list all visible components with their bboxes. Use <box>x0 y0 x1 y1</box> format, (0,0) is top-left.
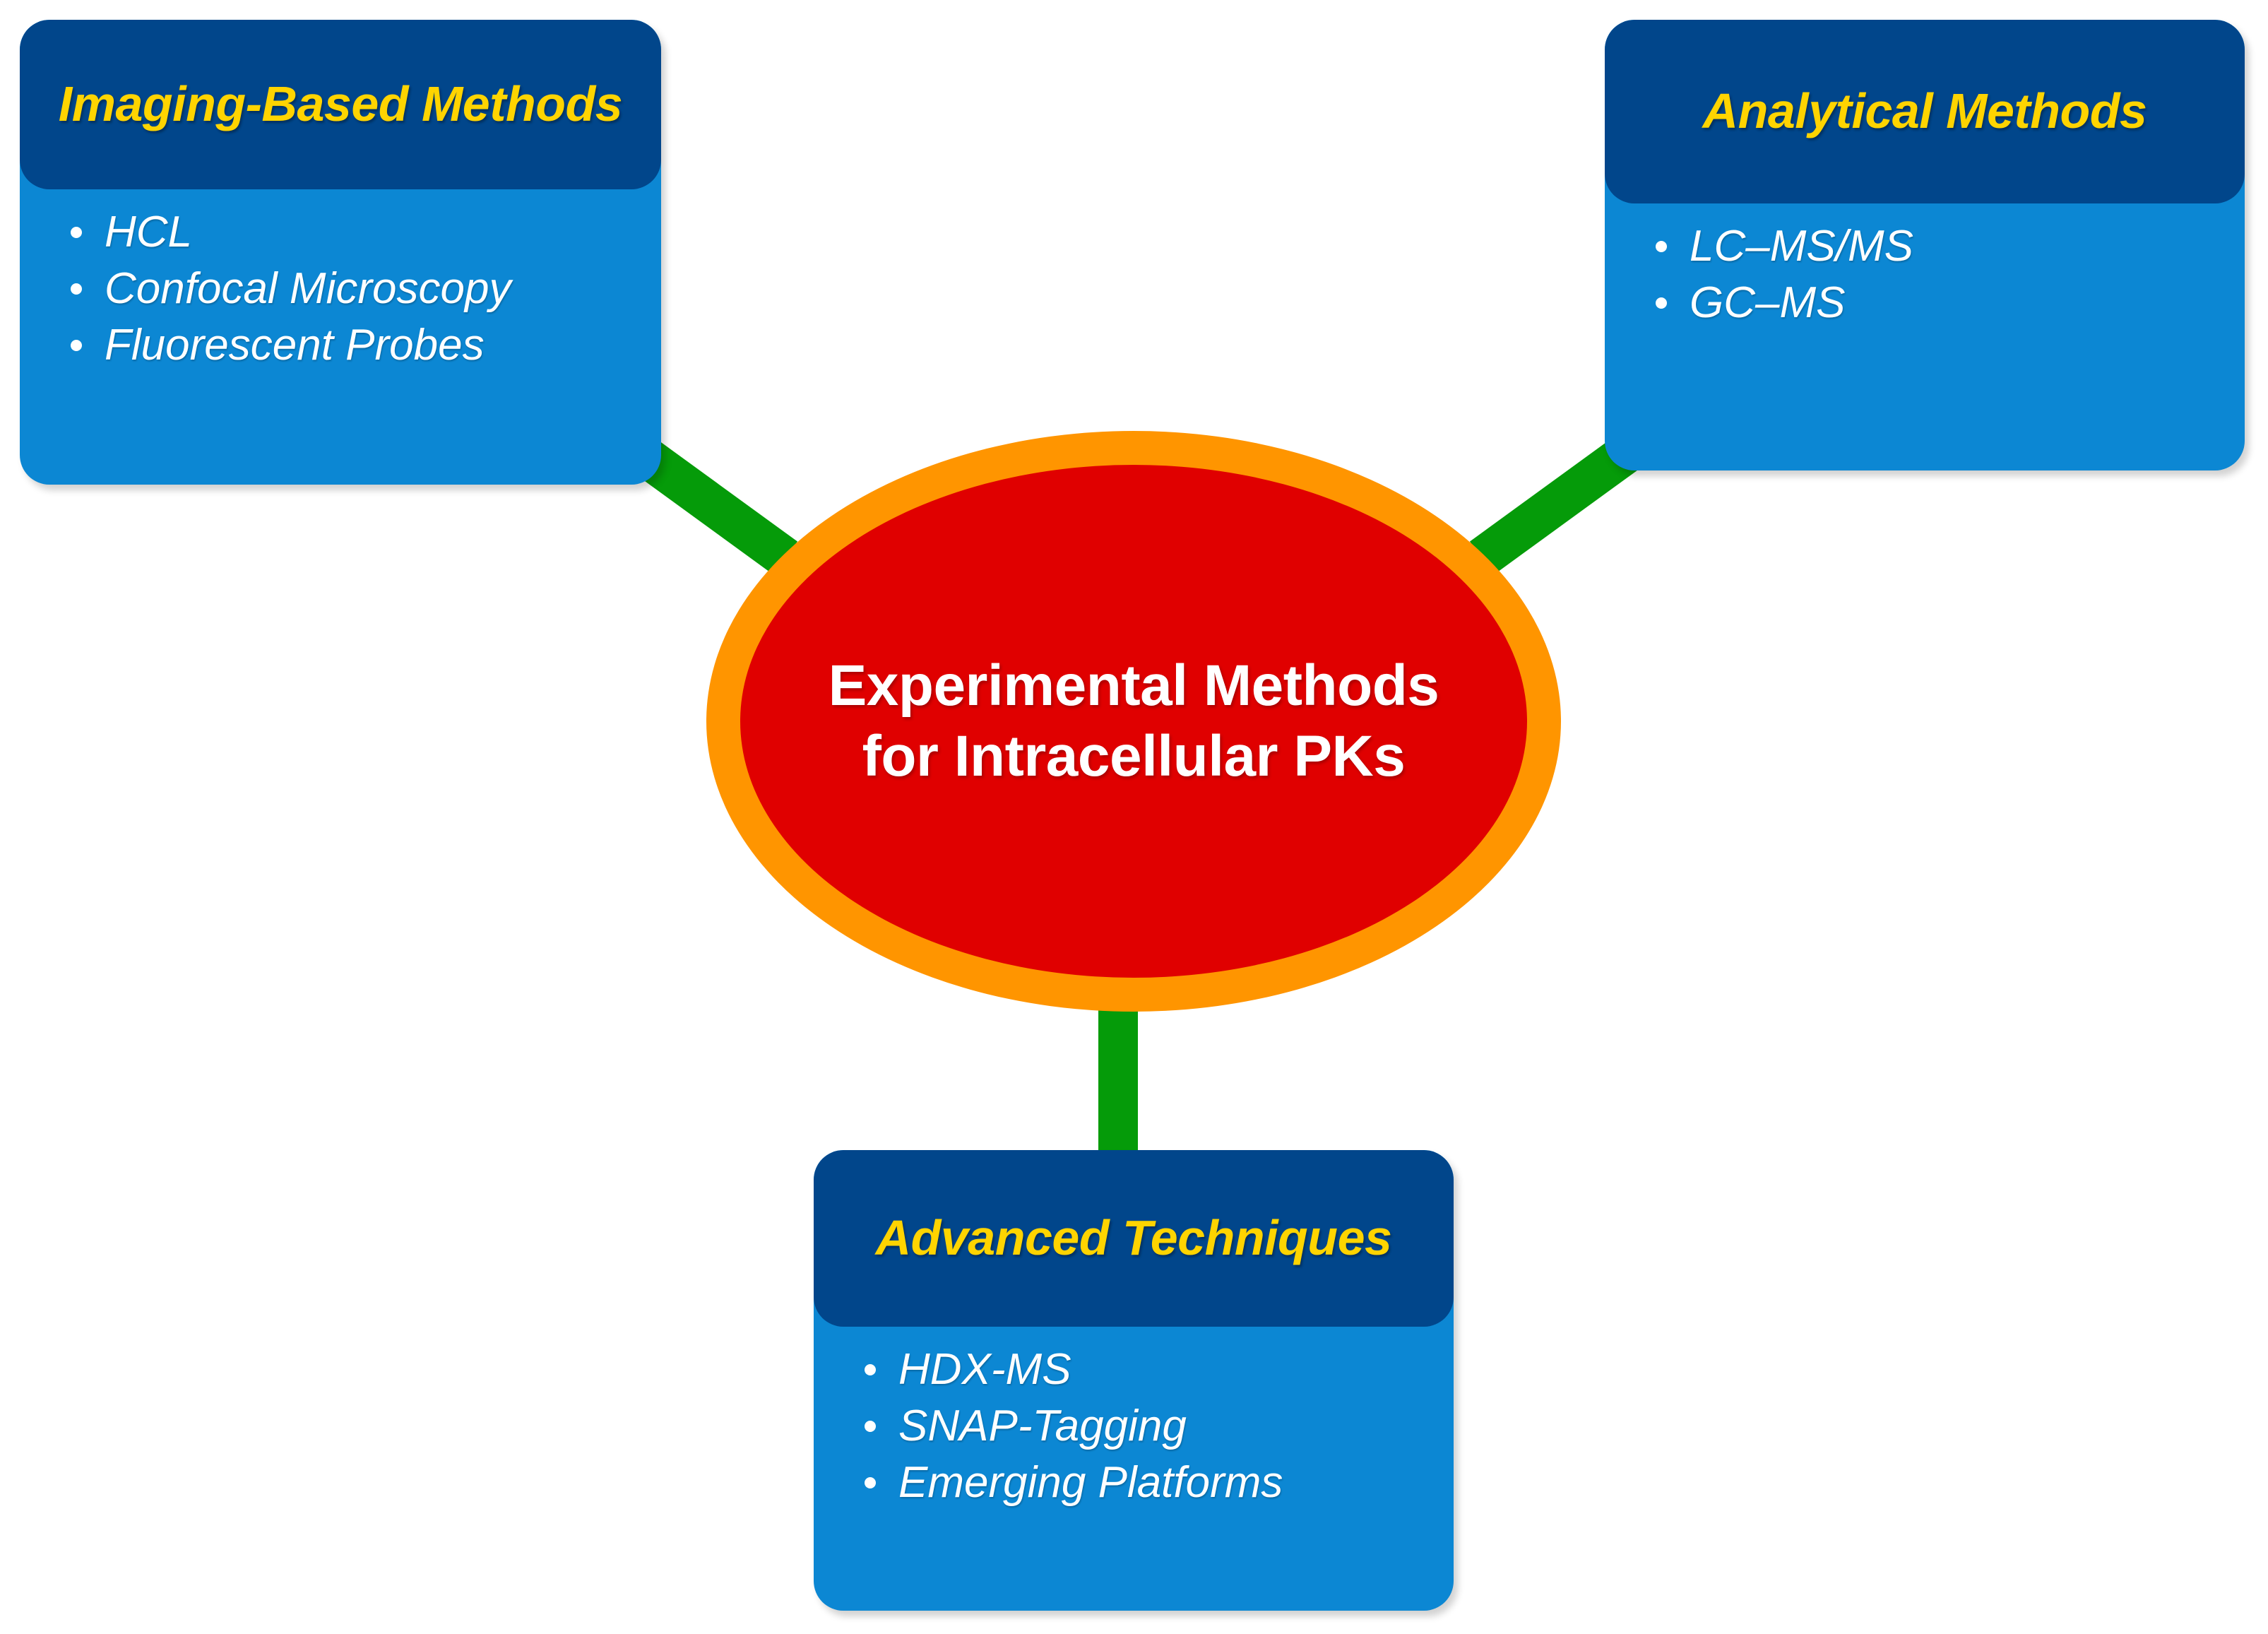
list-item: LC–MS/MS <box>1646 225 2226 268</box>
bullet-list-advanced: HDX-MS SNAP-Tagging Emerging Platforms <box>855 1348 1435 1505</box>
list-item: Confocal Microscopy <box>61 267 643 311</box>
card-header-advanced: Advanced Techniques <box>814 1150 1454 1327</box>
card-title-imaging: Imaging-Based Methods <box>59 76 622 133</box>
list-item: SNAP-Tagging <box>855 1404 1435 1448</box>
bullet-list-analytical: LC–MS/MS GC–MS <box>1646 225 2226 325</box>
card-body-advanced: HDX-MS SNAP-Tagging Emerging Platforms <box>814 1327 1454 1611</box>
list-item: GC–MS <box>1646 281 2226 325</box>
node-card-imaging-based-methods[interactable]: Imaging-Based Methods HCL Confocal Micro… <box>20 20 661 485</box>
card-body-analytical: LC–MS/MS GC–MS <box>1605 203 2245 470</box>
diagram-canvas: Imaging-Based Methods HCL Confocal Micro… <box>0 0 2268 1634</box>
bullet-list-imaging: HCL Confocal Microscopy Fluorescent Prob… <box>61 211 643 367</box>
central-hub-ellipse[interactable]: Experimental Methods for Intracellular P… <box>706 431 1561 1012</box>
card-header-imaging: Imaging-Based Methods <box>20 20 661 189</box>
list-item: HDX-MS <box>855 1348 1435 1392</box>
central-hub-label: Experimental Methods for Intracellular P… <box>740 651 1527 792</box>
card-title-analytical: Analytical Methods <box>1703 83 2147 140</box>
list-item: Emerging Platforms <box>855 1461 1435 1505</box>
card-header-analytical: Analytical Methods <box>1605 20 2245 203</box>
card-title-advanced: Advanced Techniques <box>876 1210 1392 1267</box>
node-card-analytical-methods[interactable]: Analytical Methods LC–MS/MS GC–MS <box>1605 20 2245 470</box>
node-card-advanced-techniques[interactable]: Advanced Techniques HDX-MS SNAP-Tagging … <box>814 1150 1454 1611</box>
card-body-imaging: HCL Confocal Microscopy Fluorescent Prob… <box>20 189 661 485</box>
list-item: Fluorescent Probes <box>61 324 643 367</box>
list-item: HCL <box>61 211 643 254</box>
